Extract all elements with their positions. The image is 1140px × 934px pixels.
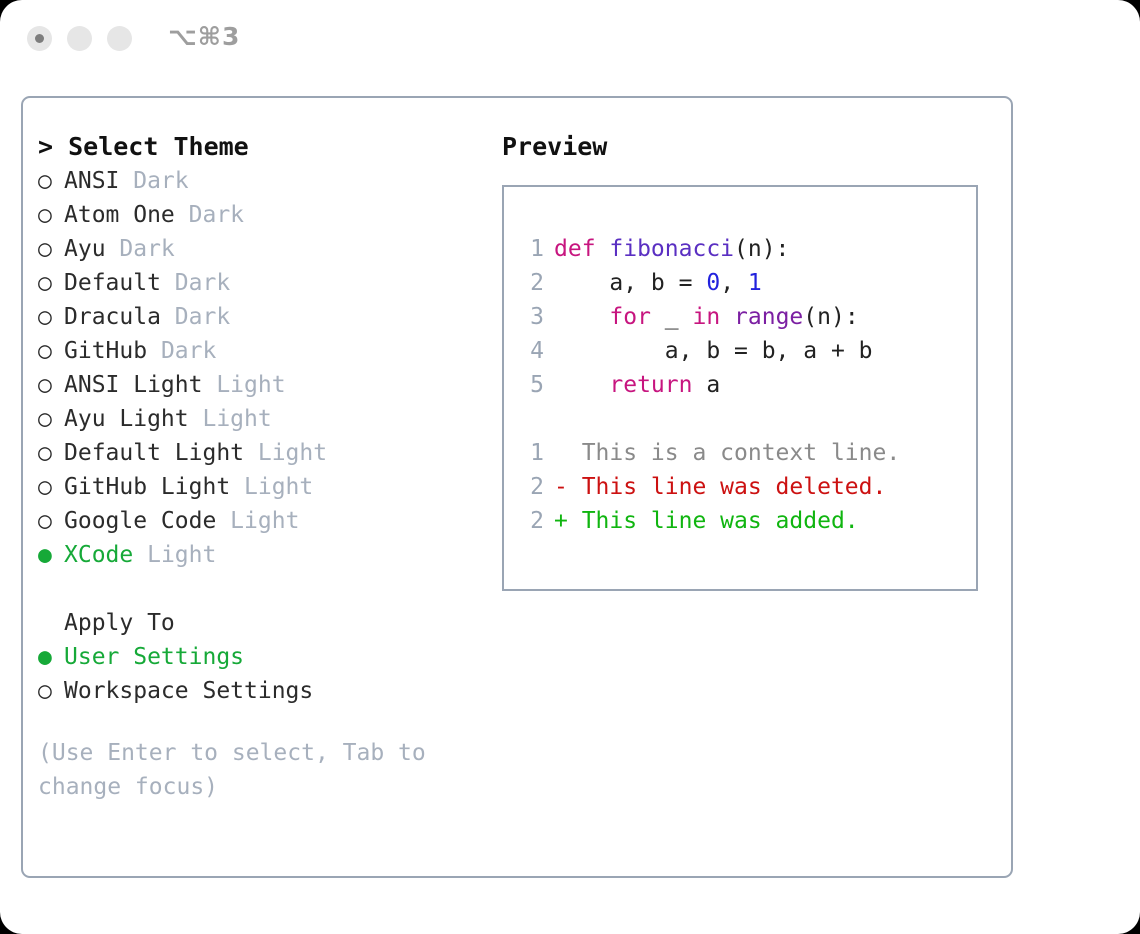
dialog-frame: > Select Theme ○ANSI Dark○Atom One Dark○…	[21, 96, 1013, 878]
theme-option-github[interactable]: ○GitHub Dark	[38, 334, 498, 368]
theme-option-label: GitHub Light	[64, 474, 230, 500]
window-dot-third[interactable]	[107, 26, 132, 51]
code-token: in	[692, 304, 720, 330]
code-token: _	[651, 304, 693, 330]
theme-option-ayu-light[interactable]: ○Ayu Light Light	[38, 402, 498, 436]
theme-option-label: Google Code	[64, 508, 216, 534]
app-window: ⌥⌘3 > Select Theme ○ANSI Dark○Atom One D…	[0, 0, 1140, 934]
radio-unselected-icon: ○	[38, 334, 64, 368]
code-token	[554, 372, 609, 398]
theme-variant-tag: Dark	[161, 270, 230, 296]
theme-variant-tag: Light	[216, 508, 299, 534]
code-token	[720, 304, 734, 330]
code-token	[554, 304, 609, 330]
preview-box: 1def fibonacci(n):2 a, b = 0, 13 for _ i…	[502, 185, 978, 591]
apply-to-option-label: Workspace Settings	[64, 678, 313, 704]
code-token: for	[609, 304, 651, 330]
apply-to-header: Apply To	[38, 606, 498, 640]
theme-option-label: XCode	[64, 542, 133, 568]
radio-unselected-icon: ○	[38, 674, 64, 708]
code-token: (n):	[734, 236, 789, 262]
preview-title: Preview	[502, 130, 992, 164]
theme-option-label: GitHub	[64, 338, 147, 364]
line-number: 2	[516, 504, 544, 538]
code-line: 3 for _ in range(n):	[516, 300, 972, 334]
select-theme-header: > Select Theme	[38, 130, 498, 164]
apply-to-option-list: ●User Settings○Workspace Settings	[38, 640, 498, 708]
theme-option-ansi[interactable]: ○ANSI Dark	[38, 164, 498, 198]
theme-variant-tag: Light	[244, 440, 327, 466]
diff-line-ctx: 1 This is a context line.	[516, 436, 972, 470]
radio-unselected-icon: ○	[38, 164, 64, 198]
theme-option-list: ○ANSI Dark○Atom One Dark○Ayu Dark○Defaul…	[38, 164, 498, 572]
code-line: 1def fibonacci(n):	[516, 232, 972, 266]
radio-unselected-icon: ○	[38, 198, 64, 232]
theme-option-label: Ayu Light	[64, 406, 189, 432]
theme-variant-tag: Dark	[175, 202, 244, 228]
theme-option-label: Atom One	[64, 202, 175, 228]
theme-option-default[interactable]: ○Default Dark	[38, 266, 498, 300]
theme-option-github-light[interactable]: ○GitHub Light Light	[38, 470, 498, 504]
line-number: 1	[516, 436, 544, 470]
diff-line-del: 2- This line was deleted.	[516, 470, 972, 504]
theme-variant-tag: Light	[230, 474, 313, 500]
apply-to-option-user-settings[interactable]: ●User Settings	[38, 640, 498, 674]
radio-unselected-icon: ○	[38, 232, 64, 266]
line-number: 2	[516, 266, 544, 300]
keyboard-shortcut-label: ⌥⌘3	[168, 22, 240, 51]
theme-option-label: Dracula	[64, 304, 161, 330]
code-sample: 1def fibonacci(n):2 a, b = 0, 13 for _ i…	[516, 232, 972, 538]
code-line: 5 return a	[516, 368, 972, 402]
code-token: a	[692, 372, 720, 398]
line-number: 5	[516, 368, 544, 402]
radio-unselected-icon: ○	[38, 266, 64, 300]
theme-variant-tag: Light	[133, 542, 216, 568]
code-token: (n):	[803, 304, 858, 330]
radio-unselected-icon: ○	[38, 300, 64, 334]
theme-variant-tag: Dark	[119, 168, 188, 194]
code-token: def	[554, 236, 609, 262]
code-token: fibonacci	[609, 236, 734, 262]
theme-variant-tag: Light	[202, 372, 285, 398]
line-number: 2	[516, 470, 544, 504]
code-token: a, b = b, a + b	[554, 338, 873, 364]
window-dot-second[interactable]	[67, 26, 92, 51]
code-token: ,	[720, 270, 748, 296]
apply-to-option-label: User Settings	[64, 644, 244, 670]
theme-option-ansi-light[interactable]: ○ANSI Light Light	[38, 368, 498, 402]
apply-to-option-workspace-settings[interactable]: ○Workspace Settings	[38, 674, 498, 708]
titlebar: ⌥⌘3	[0, 0, 1140, 78]
radio-unselected-icon: ○	[38, 504, 64, 538]
theme-variant-tag: Light	[189, 406, 272, 432]
line-number: 3	[516, 300, 544, 334]
diff-line-text: - This line was deleted.	[554, 474, 886, 500]
theme-option-label: ANSI	[64, 168, 119, 194]
line-number: 1	[516, 232, 544, 266]
diff-line-text: This is a context line.	[554, 440, 900, 466]
window-dot-active[interactable]	[27, 26, 52, 51]
list-spacer	[38, 572, 498, 606]
diff-line-add: 2+ This line was added.	[516, 504, 972, 538]
diff-line-text: + This line was added.	[554, 508, 859, 534]
code-token: a, b =	[554, 270, 706, 296]
window-dot-active-inner	[35, 34, 44, 43]
theme-option-atom-one[interactable]: ○Atom One Dark	[38, 198, 498, 232]
line-number: 4	[516, 334, 544, 368]
theme-option-dracula[interactable]: ○Dracula Dark	[38, 300, 498, 334]
keyboard-hint-text: (Use Enter to select, Tab to change focu…	[38, 736, 448, 804]
radio-selected-icon: ●	[38, 538, 64, 572]
code-blank-line	[516, 402, 972, 436]
theme-selection-panel: > Select Theme ○ANSI Dark○Atom One Dark○…	[38, 130, 498, 804]
code-token: return	[609, 372, 692, 398]
theme-option-label: Ayu	[64, 236, 106, 262]
radio-selected-icon: ●	[38, 640, 64, 674]
radio-unselected-icon: ○	[38, 436, 64, 470]
theme-option-label: Default Light	[64, 440, 244, 466]
radio-unselected-icon: ○	[38, 368, 64, 402]
theme-option-xcode[interactable]: ●XCode Light	[38, 538, 498, 572]
code-token: range	[734, 304, 803, 330]
theme-option-label: ANSI Light	[64, 372, 202, 398]
theme-option-google-code[interactable]: ○Google Code Light	[38, 504, 498, 538]
radio-unselected-icon: ○	[38, 470, 64, 504]
theme-variant-tag: Dark	[147, 338, 216, 364]
code-line: 2 a, b = 0, 1	[516, 266, 972, 300]
code-token: 1	[748, 270, 762, 296]
theme-variant-tag: Dark	[106, 236, 175, 262]
theme-option-default-light[interactable]: ○Default Light Light	[38, 436, 498, 470]
radio-unselected-icon: ○	[38, 402, 64, 436]
theme-variant-tag: Dark	[161, 304, 230, 330]
theme-option-label: Default	[64, 270, 161, 296]
code-line: 4 a, b = b, a + b	[516, 334, 972, 368]
preview-panel: Preview 1def fibonacci(n):2 a, b = 0, 13…	[502, 130, 992, 591]
code-token: 0	[706, 270, 720, 296]
theme-option-ayu[interactable]: ○Ayu Dark	[38, 232, 498, 266]
